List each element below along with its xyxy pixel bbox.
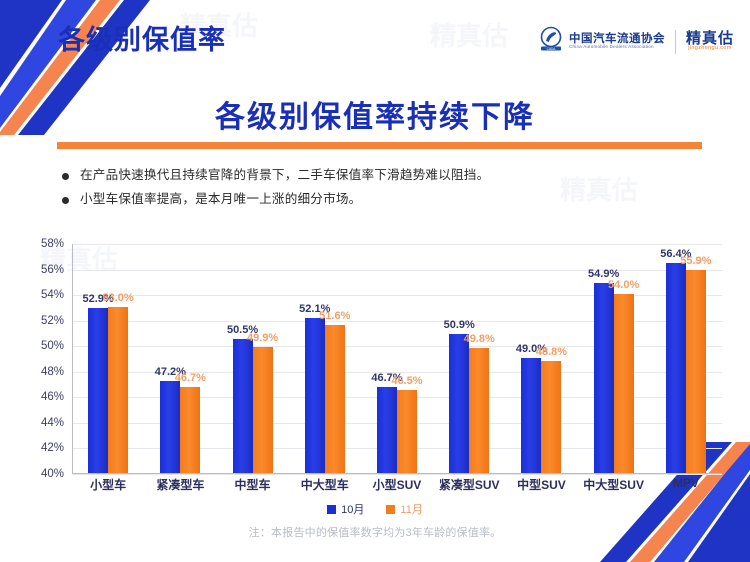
y-axis-tick-label: 44% <box>41 417 64 429</box>
bar-group: 49.0%48.8% <box>505 244 577 473</box>
bar-oct[interactable]: 54.9% <box>594 283 614 473</box>
bar-oct[interactable]: 49.0% <box>521 358 541 473</box>
bar-group: 52.9%53.0% <box>72 244 144 473</box>
x-axis-tick-label: 中大型SUV <box>578 476 650 493</box>
bar-group: 56.4%55.9% <box>650 244 722 473</box>
bar-group: 46.7%46.5% <box>361 244 433 473</box>
chart-legend: 10月11月 <box>0 501 750 517</box>
bar-group: 54.9%54.0% <box>578 244 650 473</box>
bar-value-label: 54.0% <box>608 279 639 291</box>
legend-swatch-icon <box>386 505 395 514</box>
legend-label: 10月 <box>341 501 364 517</box>
bar-nov[interactable]: 46.5% <box>397 390 417 473</box>
watermark: 精真估 <box>430 16 508 53</box>
bar-value-label: 46.7% <box>175 372 206 384</box>
jzg-name-en: jingzhengu.com <box>688 46 731 52</box>
y-axis-tick-label: 58% <box>41 238 64 250</box>
bar-group: 50.9%49.8% <box>433 244 505 473</box>
bullet-text: 小型车保值率提高，是本月唯一上涨的细分市场。 <box>80 192 361 208</box>
x-axis-tick-label: 紧凑型车 <box>144 476 216 493</box>
svg-text:CADA: CADA <box>547 47 557 51</box>
gridline <box>72 474 722 475</box>
bullet-dot-icon <box>62 173 69 180</box>
bar-value-label: 55.9% <box>680 255 711 267</box>
bar-nov[interactable]: 55.9% <box>686 270 706 473</box>
x-axis-tick-label: 小型SUV <box>361 476 433 493</box>
bar-value-label: 50.9% <box>444 319 475 331</box>
y-axis-tick-label: 42% <box>41 442 64 454</box>
bar-value-label: 53.0% <box>103 292 134 304</box>
bar-nov[interactable]: 51.6% <box>325 325 345 473</box>
bar-chart: 58%56%54%52%50%48%46%44%42%40% 52.9%53.0… <box>0 232 750 492</box>
slide-root: 精真估 精真估 精真估 精真估 各级别保值率 CADA 中国汽车流通协会 Chi… <box>0 0 750 562</box>
main-heading: 各级别保值率持续下降 <box>0 92 750 136</box>
bar-oct[interactable]: 46.7% <box>377 387 397 473</box>
x-axis-labels: 小型车紧凑型车中型车中大型车小型SUV紧凑型SUV中型SUV中大型SUVMPV <box>72 476 722 493</box>
bar-value-label: 46.5% <box>391 375 422 387</box>
cada-text: 中国汽车流通协会 China Automobile Dealers Associ… <box>569 33 665 50</box>
brand-divider <box>675 30 676 54</box>
bar-group: 52.1%51.6% <box>289 244 361 473</box>
y-axis-tick-label: 40% <box>41 468 64 480</box>
bar-oct[interactable]: 50.5% <box>233 339 253 473</box>
legend-item[interactable]: 10月 <box>327 501 364 517</box>
x-axis-line <box>72 473 722 474</box>
x-axis-tick-label: MPV <box>650 476 722 493</box>
list-item: 小型车保值率提高，是本月唯一上涨的细分市场。 <box>62 192 702 208</box>
bullet-dot-icon <box>62 197 69 204</box>
footer-note: 注：本报告中的保值率数字均为3年车龄的保值率。 <box>0 524 750 540</box>
legend-label: 11月 <box>400 501 422 517</box>
bullet-list: 在产品快速换代且持续官降的背景下，二手车保值率下滑趋势难以阻挡。 小型车保值率提… <box>62 168 702 215</box>
bar-nov[interactable]: 53.0% <box>108 307 128 473</box>
y-axis-labels: 58%56%54%52%50%48%46%44%42%40% <box>0 244 72 474</box>
bar-nov[interactable]: 46.7% <box>180 387 200 473</box>
cada-logo: CADA 中国汽车流通协会 China Automobile Dealers A… <box>538 26 665 57</box>
page-title: 各级别保值率 <box>58 18 226 57</box>
cada-emblem-icon: CADA <box>538 26 564 57</box>
bar-value-label: 48.8% <box>536 346 567 358</box>
bar-value-label: 54.9% <box>588 268 619 280</box>
y-axis-tick-label: 56% <box>41 264 64 276</box>
bullet-text: 在产品快速换代且持续官降的背景下，二手车保值率下滑趋势难以阻挡。 <box>80 168 489 184</box>
jingzhengu-logo: 精真估 jingzhengu.com <box>686 31 734 53</box>
x-axis-tick-label: 中型车 <box>216 476 288 493</box>
bar-group: 50.5%49.9% <box>216 244 288 473</box>
x-axis-tick-label: 小型车 <box>72 476 144 493</box>
list-item: 在产品快速换代且持续官降的背景下，二手车保值率下滑趋势难以阻挡。 <box>62 168 702 184</box>
cada-name-en: China Automobile Dealers Association <box>569 45 665 50</box>
x-axis-tick-label: 中型SUV <box>505 476 577 493</box>
bar-group: 47.2%46.7% <box>144 244 216 473</box>
bar-oct[interactable]: 50.9% <box>449 334 469 473</box>
bar-oct[interactable]: 47.2% <box>160 381 180 473</box>
legend-swatch-icon <box>327 505 336 514</box>
jzg-name-cn: 精真估 <box>686 31 734 47</box>
bar-value-label: 49.9% <box>247 332 278 344</box>
y-axis-tick-label: 50% <box>41 340 64 352</box>
bar-nov[interactable]: 49.8% <box>469 348 489 473</box>
y-axis-tick-label: 54% <box>41 289 64 301</box>
bar-value-label: 51.6% <box>319 310 350 322</box>
brand-logos: CADA 中国汽车流通协会 China Automobile Dealers A… <box>538 26 734 57</box>
bar-value-label: 49.8% <box>464 333 495 345</box>
bar-nov[interactable]: 54.0% <box>614 294 634 473</box>
x-axis-tick-label: 中大型车 <box>289 476 361 493</box>
bar-oct[interactable]: 52.1% <box>305 318 325 473</box>
y-axis-tick-label: 46% <box>41 391 64 403</box>
plot-area: 52.9%53.0%47.2%46.7%50.5%49.9%52.1%51.6%… <box>72 244 722 474</box>
y-axis-tick-label: 52% <box>41 315 64 327</box>
orange-divider <box>57 142 702 149</box>
bar-groups: 52.9%53.0%47.2%46.7%50.5%49.9%52.1%51.6%… <box>72 244 722 473</box>
bar-nov[interactable]: 48.8% <box>541 361 561 473</box>
y-axis-tick-label: 48% <box>41 366 64 378</box>
legend-item[interactable]: 11月 <box>386 501 422 517</box>
x-axis-tick-label: 紧凑型SUV <box>433 476 505 493</box>
bar-oct[interactable]: 56.4% <box>666 263 686 473</box>
bar-oct[interactable]: 52.9% <box>88 308 108 473</box>
bar-nov[interactable]: 49.9% <box>253 347 273 474</box>
